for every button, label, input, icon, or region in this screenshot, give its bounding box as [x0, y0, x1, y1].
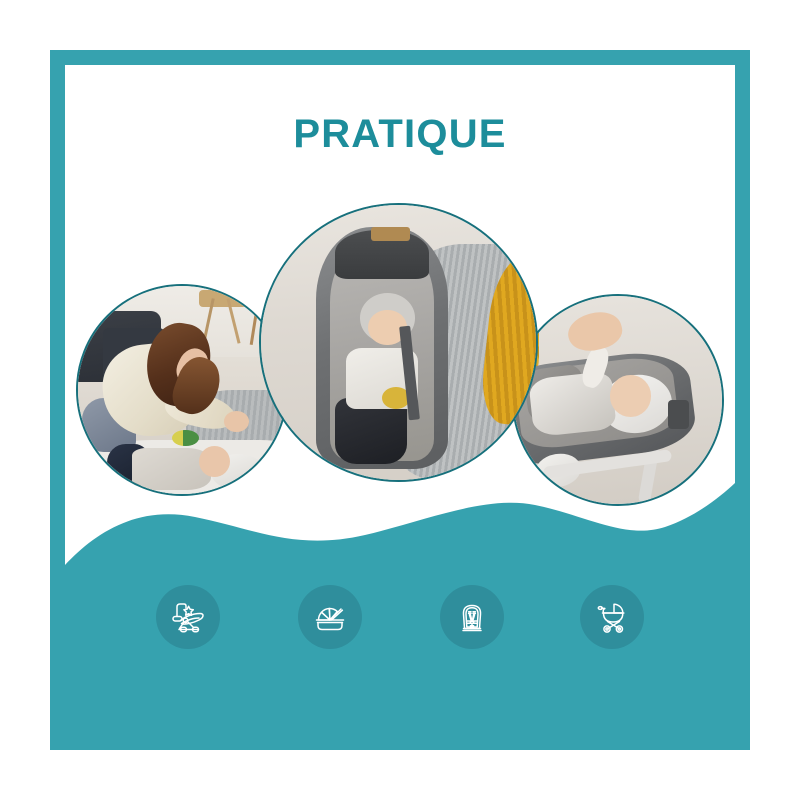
pram-icon [590, 595, 634, 639]
car-seat-icon [450, 595, 494, 639]
feature-icon-car-seat[interactable] [440, 585, 504, 649]
product-feature-banner: PRATIQUE [0, 0, 800, 800]
carrycot-icon [308, 595, 352, 639]
baby-bouncer-icon [166, 595, 210, 639]
feature-icon-baby-bouncer[interactable] [156, 585, 220, 649]
feature-icons-row [0, 0, 800, 800]
feature-icon-carrycot[interactable] [298, 585, 362, 649]
feature-icon-pram[interactable] [580, 585, 644, 649]
